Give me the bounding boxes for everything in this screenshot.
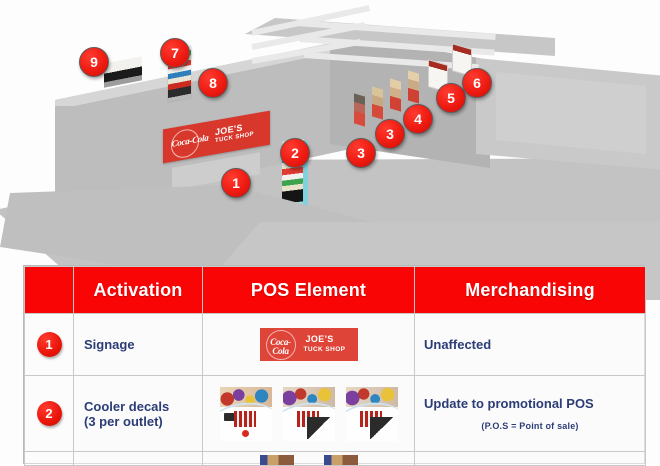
- store-marker-3[interactable]: 3: [375, 119, 405, 149]
- pos-thumbnail: [260, 455, 294, 465]
- store-marker-5[interactable]: 5: [436, 83, 466, 113]
- store-product-display: [372, 86, 383, 119]
- pos-thumbnail: [324, 455, 358, 465]
- store-marker-7[interactable]: 7: [160, 38, 190, 68]
- store-layout-illustration: Coca-Cola JOE'S TUCK SHOP 9781233456: [0, 0, 660, 300]
- column-header-activation: Activation: [74, 267, 203, 314]
- store-marker-9[interactable]: 9: [79, 47, 109, 77]
- row-number-cell: 1: [25, 314, 74, 376]
- activation-table: Activation POS Element Merchandising 1 S…: [23, 265, 645, 464]
- merchandising-cell: Update to promotional POS (P.O.S = Point…: [415, 376, 646, 452]
- merchandising-note: (P.O.S = Point of sale): [415, 412, 645, 431]
- column-header-pos-element: POS Element: [203, 267, 415, 314]
- merchandising-cell: [415, 452, 646, 466]
- store-marker-3[interactable]: 3: [346, 138, 376, 168]
- row-number-cell: 2: [25, 376, 74, 452]
- decal-dot: [242, 430, 249, 437]
- pos-element-cell: [203, 376, 415, 452]
- table-row[interactable]: [25, 452, 646, 466]
- activation-cell: Cooler decals (3 per outlet): [74, 376, 203, 452]
- activation-cell: Signage: [74, 314, 203, 376]
- row-number-cell: [25, 452, 74, 466]
- decal-corner: [307, 417, 331, 439]
- row-number-badge: 1: [37, 332, 62, 357]
- pos-element-cell: Coca-Cola JOE'S TUCK SHOP: [203, 314, 415, 376]
- activation-label: Signage: [74, 337, 202, 352]
- store-product-display: [354, 93, 365, 126]
- decal-corner: [370, 417, 394, 439]
- sign-line1: JOE'S: [306, 334, 334, 344]
- sign-line2: TUCK SHOP: [304, 346, 346, 353]
- store-marker-8[interactable]: 8: [198, 68, 228, 98]
- pos-thumbnail-strip: [203, 453, 414, 465]
- coca-cola-logo-text: Coca-Cola: [264, 338, 298, 356]
- cooler-decal-thumbnail: [220, 387, 272, 441]
- activation-label-line1: Cooler decals: [74, 399, 202, 414]
- column-header-number: [25, 267, 74, 314]
- store-product-display: [408, 70, 419, 103]
- table-row[interactable]: 2 Cooler decals (3 per outlet): [25, 376, 646, 452]
- table-row[interactable]: 1 Signage Coca-Cola JOE'S TUCK SHOP: [25, 314, 646, 376]
- store-marker-4[interactable]: 4: [403, 104, 433, 134]
- slide-root: Coca-Cola JOE'S TUCK SHOP 9781233456 Act…: [0, 0, 660, 464]
- pos-element-cell: [203, 452, 415, 466]
- row-number-badge: 2: [37, 401, 62, 426]
- activation-label-line2: (3 per outlet): [74, 414, 202, 429]
- store-marker-2[interactable]: 2: [280, 138, 310, 168]
- decal-bottles: [234, 411, 256, 427]
- table-header-row: Activation POS Element Merchandising: [25, 267, 646, 314]
- activation-cell: [74, 452, 203, 466]
- merchandising-label: Unaffected: [415, 337, 645, 353]
- column-header-merchandising: Merchandising: [415, 267, 646, 314]
- merchandising-label: Update to promotional POS: [415, 396, 645, 412]
- store-marker-1[interactable]: 1: [221, 168, 251, 198]
- store-fixture-shelf: [104, 56, 142, 87]
- cooler-decal-thumbnails: [203, 387, 414, 441]
- merchandising-cell: Unaffected: [415, 314, 646, 376]
- cooler-decal-thumbnail: [346, 387, 398, 441]
- coca-cola-joes-tuck-shop-sign: Coca-Cola JOE'S TUCK SHOP: [260, 328, 358, 361]
- store-marker-6[interactable]: 6: [462, 68, 492, 98]
- cooler-decal-thumbnail: [283, 387, 335, 441]
- store-product-display: [390, 78, 401, 111]
